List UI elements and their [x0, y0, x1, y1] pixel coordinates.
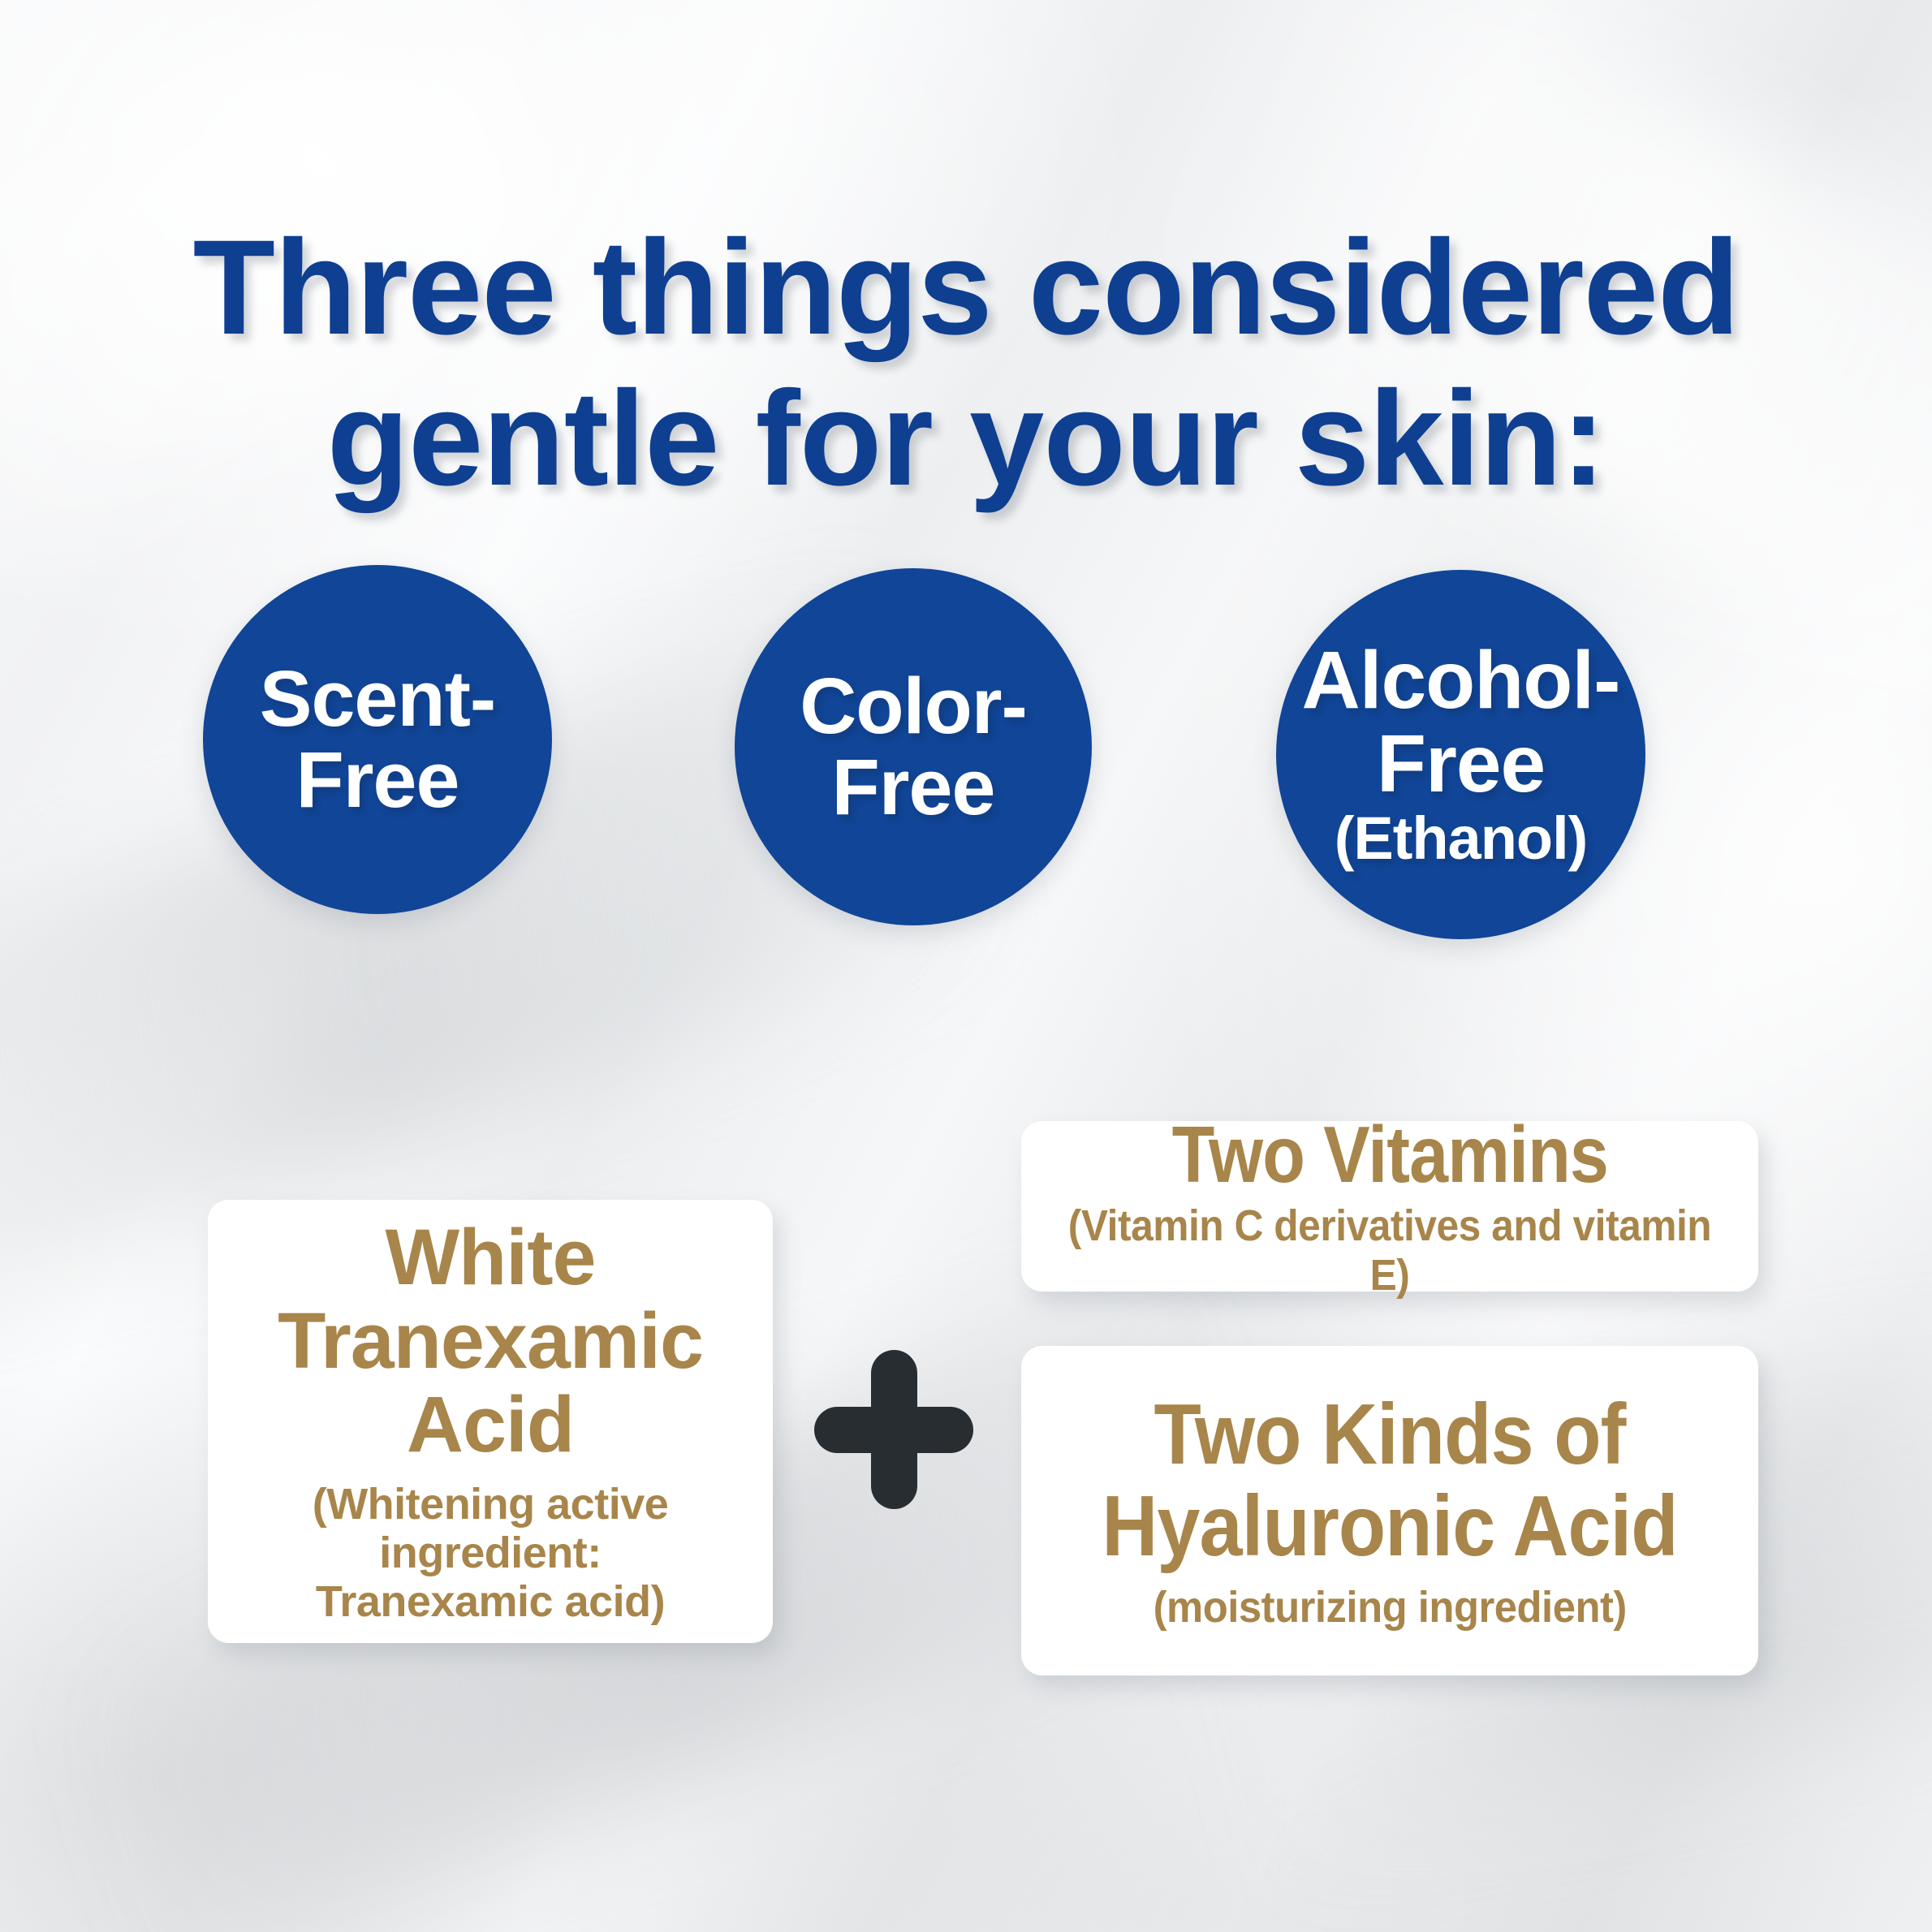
poster-canvas: Three things considered gentle for your …: [0, 0, 1932, 1932]
ingredient-card-hyaluronic-acid: Two Kinds of Hyaluronic Acid (moisturizi…: [1021, 1346, 1758, 1675]
claim-badge-scent-free: Scent- Free: [203, 565, 552, 914]
claim-badge-alcohol-free: Alcohol- Free(Ethanol): [1276, 570, 1645, 939]
claims-row: Scent- Free Color- Free Alcohol- Free(Et…: [195, 560, 1737, 942]
ingredient-card-two-vitamins: Two Vitamins (Vitamin C derivatives and …: [1021, 1121, 1758, 1292]
ingredient-title-tranexamic-acid: White Tranexamic Acid: [278, 1216, 703, 1466]
ingredient-subtitle-tranexamic-acid: (Whitening active ingredient: Tranexamic…: [229, 1480, 752, 1627]
ingredient-title-two-vitamins: Two Vitamins: [1171, 1113, 1607, 1197]
claim-label-alcohol-free-main: Alcohol- Free: [1302, 635, 1620, 809]
ingredient-subtitle-two-vitamins: (Vitamin C derivatives and vitamin E): [1067, 1201, 1713, 1300]
claim-label-color-free: Color- Free: [785, 666, 1041, 828]
claim-sublabel-ethanol: (Ethanol): [1302, 808, 1620, 869]
plus-icon-vertical-bar: [871, 1350, 917, 1509]
ingredient-title-hyaluronic-acid: Two Kinds of Hyaluronic Acid: [1102, 1389, 1677, 1572]
plus-icon: [814, 1350, 973, 1509]
ingredient-subtitle-hyaluronic-acid: (moisturizing ingredient): [1153, 1583, 1626, 1632]
claim-badge-color-free: Color- Free: [735, 568, 1092, 925]
claim-label-alcohol-free: Alcohol- Free(Ethanol): [1287, 639, 1635, 869]
ingredient-card-tranexamic-acid: White Tranexamic Acid (Whitening active …: [208, 1200, 773, 1643]
claim-label-scent-free: Scent- Free: [245, 658, 510, 821]
page-title: Three things considered gentle for your …: [0, 213, 1932, 515]
